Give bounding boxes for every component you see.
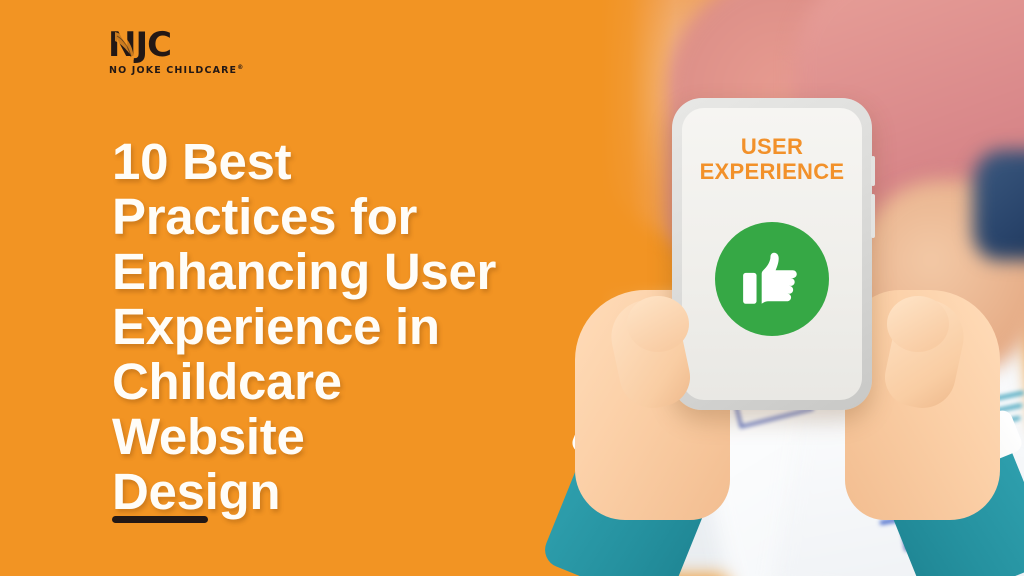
headline-line-3: Experience in (112, 298, 440, 355)
hands-holding-phone: USER EXPERIENCE (555, 0, 1024, 576)
headline-line-6: Design (112, 463, 280, 520)
banner-canvas: USER EXPERIENCE NJC NO JOKE (0, 0, 1024, 576)
logo-tagline: NO JOKE CHILDCARE® (109, 64, 244, 76)
screen-title: USER EXPERIENCE (682, 134, 862, 184)
leaf-hand-icon (112, 30, 138, 64)
headline-line-1: Practices for (112, 188, 417, 245)
headline-line-0: 10 Best (112, 133, 291, 190)
phone-screen[interactable]: USER EXPERIENCE (682, 108, 862, 400)
screen-title-line2: EXPERIENCE (682, 159, 862, 184)
logo-tagline-text: NO JOKE CHILDCARE (109, 65, 237, 76)
knuckle-left (627, 296, 689, 352)
headline-line-5: Website (112, 408, 305, 465)
divider-bar (112, 516, 208, 523)
page-title: 10 Best Practices for Enhancing User Exp… (112, 134, 572, 519)
thumbs-up-icon (739, 246, 805, 312)
logo[interactable]: NJC NO JOKE CHILDCARE® (108, 28, 228, 80)
volume-down-button[interactable] (871, 194, 875, 238)
volume-up-button[interactable] (871, 156, 875, 186)
smartphone[interactable]: USER EXPERIENCE (672, 98, 872, 410)
trademark-symbol: ® (237, 64, 244, 71)
headline-line-4: Childcare (112, 353, 342, 410)
thumbs-up-badge (715, 222, 829, 336)
screen-title-line1: USER (682, 134, 862, 159)
knuckle-right (887, 296, 949, 352)
headline-line-2: Enhancing User (112, 243, 496, 300)
